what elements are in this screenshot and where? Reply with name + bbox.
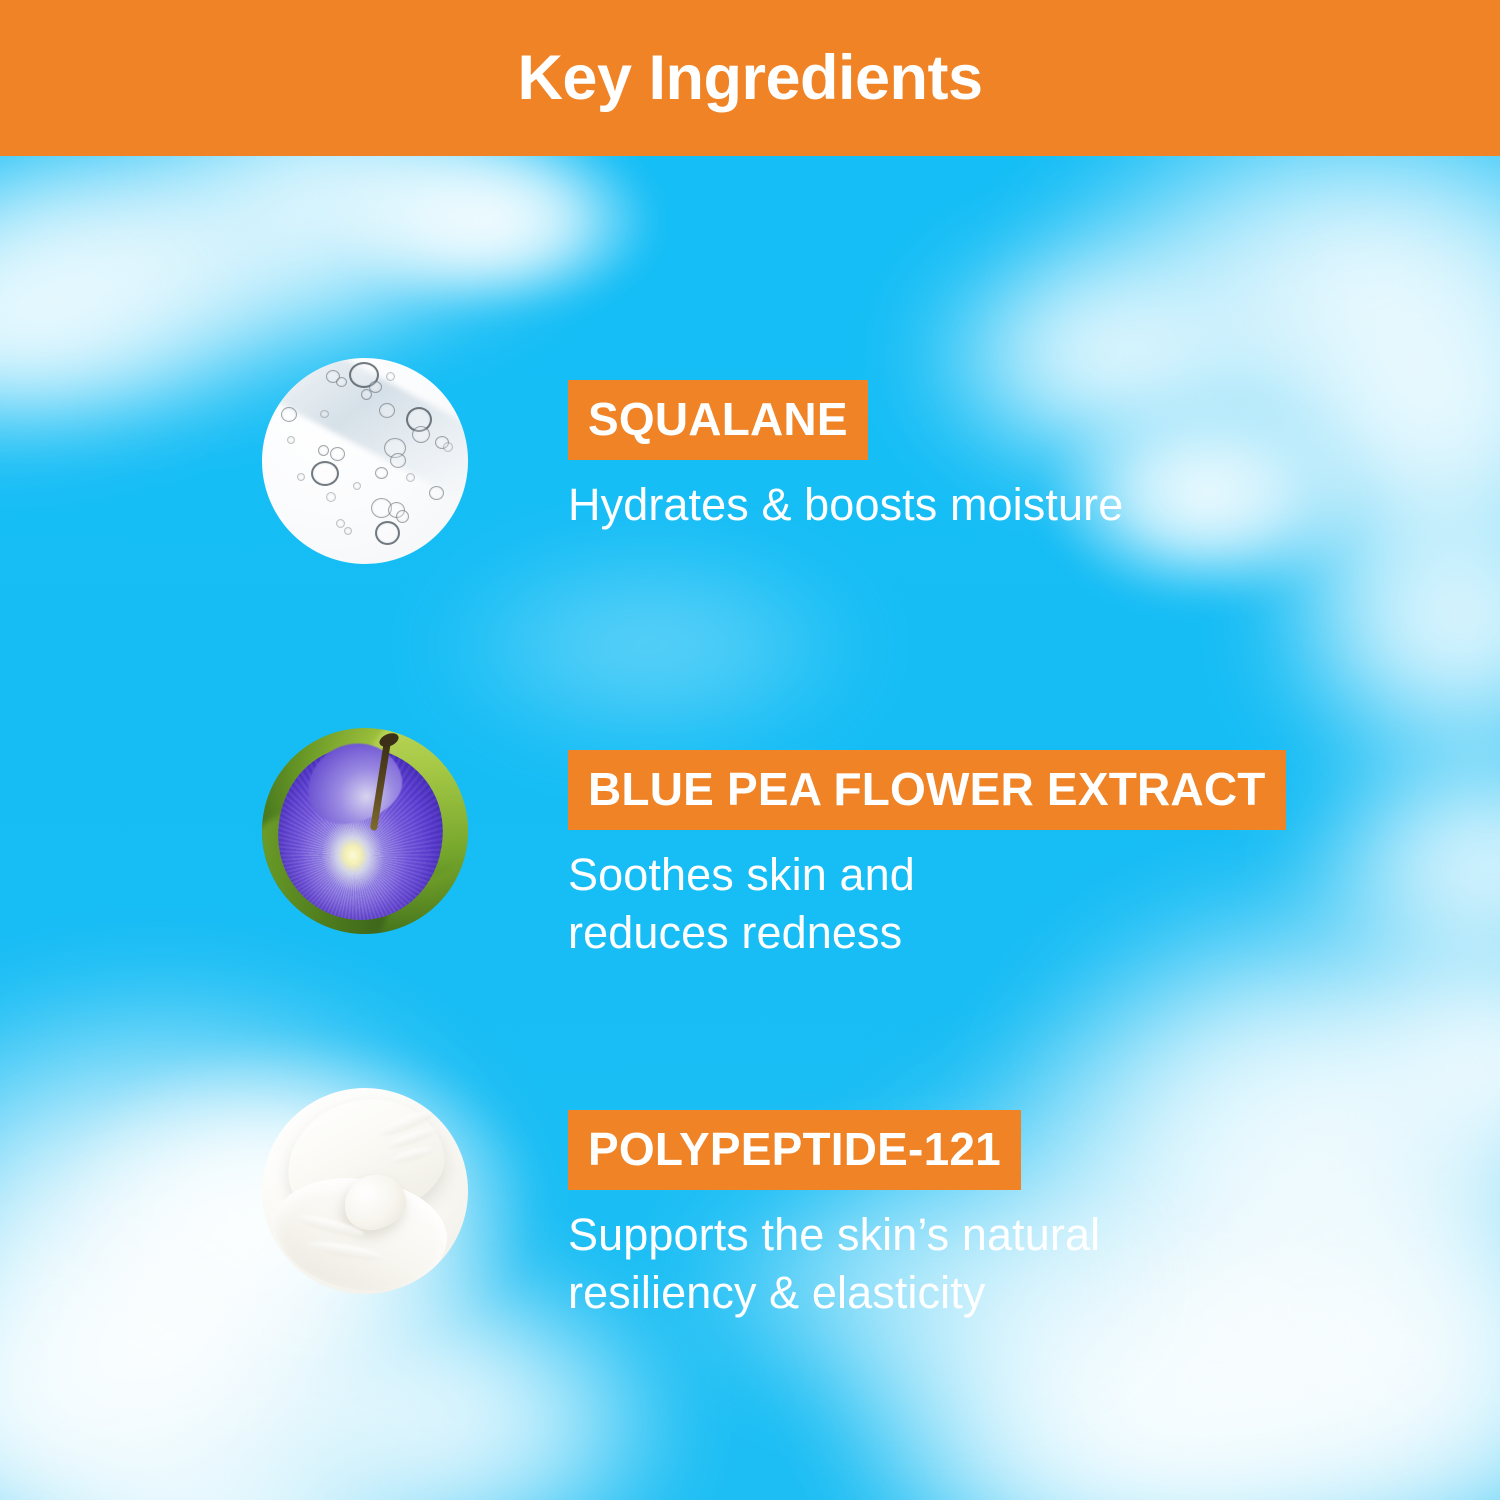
ingredient-thumbnail-wrap: [262, 358, 468, 564]
bubble-shape: [386, 372, 395, 381]
bubble-shape: [287, 436, 295, 444]
bubble-shape: [320, 410, 329, 418]
benefit-line: Soothes skin and: [568, 846, 1500, 904]
ingredient-list: SQUALANE Hydrates & boosts moisture: [0, 0, 1500, 1500]
bubble-shape: [390, 453, 406, 468]
bubble-shape: [311, 461, 339, 486]
bubble-shape: [326, 492, 336, 502]
benefit-line: resiliency & elasticity: [568, 1264, 1500, 1322]
bubble-shape: [406, 473, 415, 482]
bubble-shape: [336, 377, 347, 387]
header-band: Key Ingredients: [0, 0, 1500, 156]
bubble-shape: [344, 527, 352, 535]
ingredient-text-column: BLUE PEA FLOWER EXTRACT Soothes skin and…: [568, 728, 1500, 961]
page-title: Key Ingredients: [517, 47, 982, 110]
bubble-shape: [429, 486, 444, 500]
bubble-shape: [353, 482, 361, 490]
blue-pea-flower-icon: [262, 728, 468, 934]
ingredient-benefit: Hydrates & boosts moisture: [568, 476, 1500, 534]
ingredient-row: BLUE PEA FLOWER EXTRACT Soothes skin and…: [0, 728, 1500, 961]
bubble-shape: [361, 389, 372, 400]
ingredient-benefit: Soothes skin and reduces redness: [568, 846, 1500, 961]
ingredient-row: SQUALANE Hydrates & boosts moisture: [0, 358, 1500, 564]
ingredient-text-column: SQUALANE Hydrates & boosts moisture: [568, 358, 1500, 534]
clear-gel-serum-texture-icon: [262, 358, 468, 564]
ingredient-row: POLYPEPTIDE-121 Supports the skin’s natu…: [0, 1088, 1500, 1321]
bubble-shape: [375, 467, 388, 479]
ingredient-name-badge: POLYPEPTIDE-121: [568, 1110, 1021, 1190]
benefit-line: Hydrates & boosts moisture: [568, 476, 1500, 534]
ingredient-name-badge: SQUALANE: [568, 380, 868, 460]
benefit-line: Supports the skin’s natural: [568, 1206, 1500, 1264]
bubble-shape: [281, 407, 297, 422]
bubble-shape: [330, 447, 345, 461]
benefit-line: reduces redness: [568, 904, 1500, 962]
bubble-shape: [375, 521, 400, 545]
ingredient-benefit: Supports the skin’s natural resiliency &…: [568, 1206, 1500, 1321]
ingredient-thumbnail-wrap: [262, 1088, 468, 1294]
white-cream-texture-icon: [262, 1088, 468, 1294]
bubble-shape: [336, 519, 345, 528]
bubble-shape: [297, 473, 305, 481]
ingredient-thumbnail-wrap: [262, 728, 468, 934]
key-ingredients-infographic: Key Ingredients: [0, 0, 1500, 1500]
ingredient-name-badge: BLUE PEA FLOWER EXTRACT: [568, 750, 1286, 830]
bubble-shape: [396, 510, 409, 523]
bubble-shape: [318, 445, 329, 456]
ingredient-text-column: POLYPEPTIDE-121 Supports the skin’s natu…: [568, 1088, 1500, 1321]
